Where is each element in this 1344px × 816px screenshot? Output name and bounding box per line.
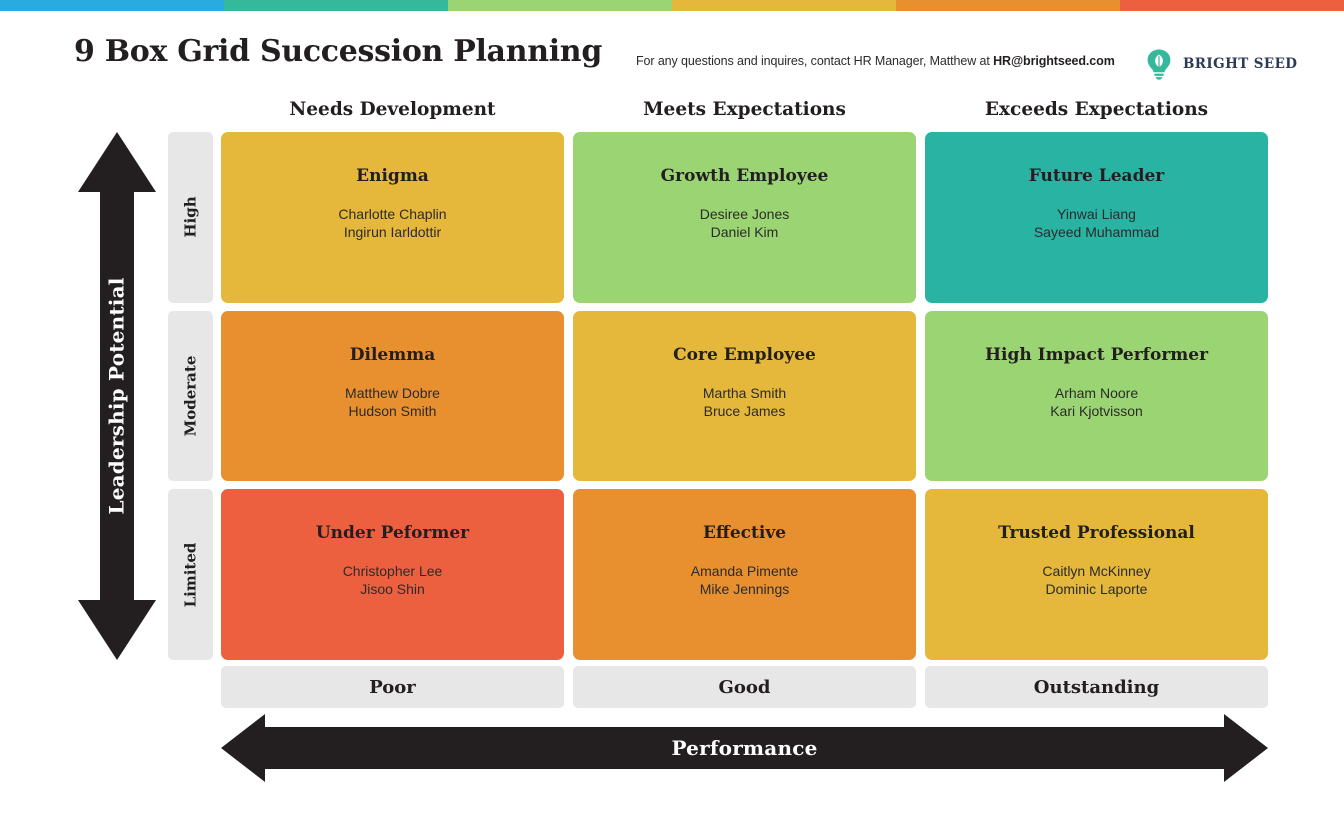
grid-cell-title: Dilemma	[350, 345, 435, 365]
grid-cell-3-2[interactable]: EffectiveAmanda PimenteMike Jennings	[573, 489, 916, 660]
grid-cell-title: Effective	[703, 523, 786, 543]
grid-row: Under PeformerChristopher LeeJisoo ShinE…	[221, 489, 1268, 660]
top-bar-segment-6	[1120, 0, 1344, 11]
leadership-potential-axis: Leadership Potential	[78, 132, 156, 660]
top-bar-segment-1	[0, 0, 224, 11]
contact-note-text: For any questions and inquires, contact …	[636, 54, 993, 68]
top-bar-segment-4	[672, 0, 896, 11]
grid-cell-title: Growth Employee	[661, 166, 829, 186]
employee-name: Yinwai Liang	[1034, 206, 1159, 224]
grid-cell-names: Charlotte ChaplinIngirun Iarldottir	[338, 206, 446, 242]
employee-name: Ingirun Iarldottir	[338, 224, 446, 242]
employee-name: Charlotte Chaplin	[338, 206, 446, 224]
employee-name: Daniel Kim	[700, 224, 790, 242]
column-headers: Needs DevelopmentMeets ExpectationsExcee…	[221, 99, 1268, 120]
potential-level-high: High	[168, 132, 213, 303]
grid-cell-names: Christopher LeeJisoo Shin	[343, 563, 443, 599]
potential-level-labels: HighModerateLimited	[168, 132, 213, 660]
page-header: 9 Box Grid Succession Planning For any q…	[0, 34, 1344, 96]
grid-cell-names: Desiree JonesDaniel Kim	[700, 206, 790, 242]
column-header-3: Exceeds Expectations	[925, 99, 1268, 120]
employee-name: Amanda Pimente	[691, 563, 798, 581]
contact-email[interactable]: HR@brightseed.com	[993, 54, 1115, 68]
grid-row: DilemmaMatthew DobreHudson SmithCore Emp…	[221, 311, 1268, 482]
grid-cell-names: Matthew DobreHudson Smith	[345, 385, 440, 421]
grid-cell-title: Future Leader	[1029, 166, 1164, 186]
employee-name: Martha Smith	[703, 385, 786, 403]
employee-name: Jisoo Shin	[343, 581, 443, 599]
potential-level-limited: Limited	[168, 489, 213, 660]
grid-row: EnigmaCharlotte ChaplinIngirun Iarldotti…	[221, 132, 1268, 303]
nine-box-grid-page: 9 Box Grid Succession Planning For any q…	[0, 0, 1344, 816]
potential-level-label-text: High	[181, 197, 199, 238]
top-bar-segment-5	[896, 0, 1120, 11]
nine-box-grid: EnigmaCharlotte ChaplinIngirun Iarldotti…	[221, 132, 1268, 660]
potential-level-label-text: Moderate	[182, 356, 200, 437]
grid-cell-1-3[interactable]: Future LeaderYinwai LiangSayeed Muhammad	[925, 132, 1268, 303]
page-title: 9 Box Grid Succession Planning	[74, 34, 602, 69]
performance-level-labels: PoorGoodOutstanding	[221, 666, 1268, 708]
grid-cell-title: Core Employee	[673, 345, 816, 365]
grid-cell-names: Caitlyn McKinneyDominic Laporte	[1042, 563, 1150, 599]
employee-name: Caitlyn McKinney	[1042, 563, 1150, 581]
grid-cell-title: Trusted Professional	[998, 523, 1195, 543]
top-bar-segment-2	[224, 0, 448, 11]
employee-name: Mike Jennings	[691, 581, 798, 599]
employee-name: Sayeed Muhammad	[1034, 224, 1159, 242]
grid-cell-3-1[interactable]: Under PeformerChristopher LeeJisoo Shin	[221, 489, 564, 660]
performance-level-outstanding: Outstanding	[925, 666, 1268, 708]
employee-name: Matthew Dobre	[345, 385, 440, 403]
employee-name: Arham Noore	[1050, 385, 1143, 403]
potential-level-moderate: Moderate	[168, 311, 213, 482]
grid-cell-2-3[interactable]: High Impact PerformerArham NooreKari Kjo…	[925, 311, 1268, 482]
employee-name: Bruce James	[703, 403, 786, 421]
brand-logo: BRIGHT SEED	[1144, 48, 1297, 80]
grid-cell-names: Yinwai LiangSayeed Muhammad	[1034, 206, 1159, 242]
employee-name: Desiree Jones	[700, 206, 790, 224]
employee-name: Kari Kjotvisson	[1050, 403, 1143, 421]
performance-level-good: Good	[573, 666, 916, 708]
grid-cell-title: Enigma	[356, 166, 429, 186]
performance-level-poor: Poor	[221, 666, 564, 708]
employee-name: Christopher Lee	[343, 563, 443, 581]
grid-cell-2-1[interactable]: DilemmaMatthew DobreHudson Smith	[221, 311, 564, 482]
grid-cell-names: Arham NooreKari Kjotvisson	[1050, 385, 1143, 421]
grid-cell-2-2[interactable]: Core EmployeeMartha SmithBruce James	[573, 311, 916, 482]
top-color-bar	[0, 0, 1344, 11]
potential-level-label-text: Limited	[182, 542, 200, 607]
grid-cell-1-1[interactable]: EnigmaCharlotte ChaplinIngirun Iarldotti…	[221, 132, 564, 303]
top-bar-segment-3	[448, 0, 672, 11]
grid-cell-3-3[interactable]: Trusted ProfessionalCaitlyn McKinneyDomi…	[925, 489, 1268, 660]
employee-name: Dominic Laporte	[1042, 581, 1150, 599]
brand-name: BRIGHT SEED	[1183, 56, 1297, 72]
grid-cell-title: Under Peformer	[316, 523, 469, 543]
employee-name: Hudson Smith	[345, 403, 440, 421]
grid-cell-title: High Impact Performer	[985, 345, 1208, 365]
grid-cell-names: Martha SmithBruce James	[703, 385, 786, 421]
column-header-2: Meets Expectations	[573, 99, 916, 120]
lightbulb-leaf-icon	[1144, 48, 1174, 80]
column-header-1: Needs Development	[221, 99, 564, 120]
grid-cell-names: Amanda PimenteMike Jennings	[691, 563, 798, 599]
contact-note: For any questions and inquires, contact …	[636, 54, 1115, 68]
grid-cell-1-2[interactable]: Growth EmployeeDesiree JonesDaniel Kim	[573, 132, 916, 303]
performance-axis: Performance	[221, 714, 1268, 782]
